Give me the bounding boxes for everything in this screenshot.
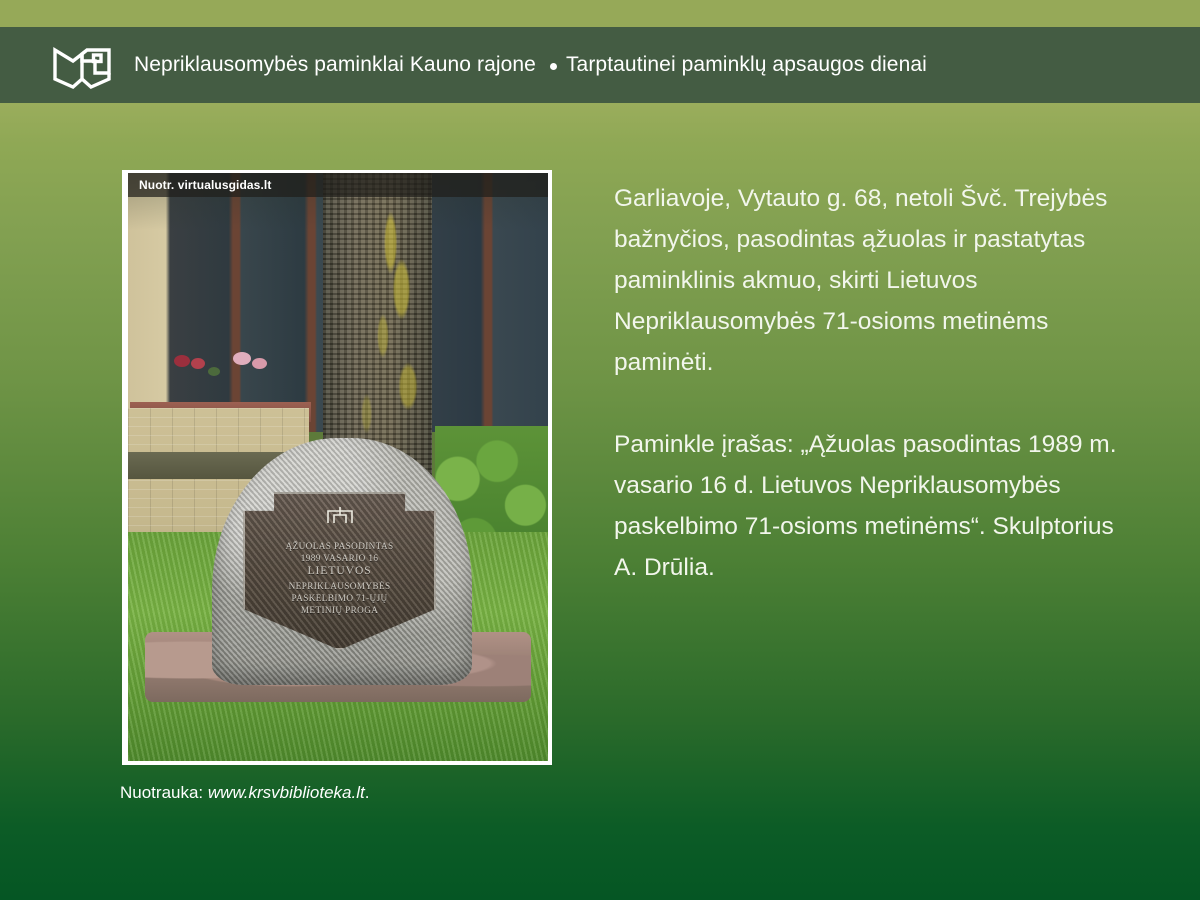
- slide-body-text: Garliavoje, Vytauto g. 68, netoli Švč. T…: [614, 178, 1124, 588]
- open-book-bookmark-logo-icon: [52, 41, 112, 89]
- inscription-line: LIETUVOS: [253, 564, 427, 579]
- photo-flower: [208, 367, 220, 376]
- header-title-part1: Nepriklausomybės paminklai Kauno rajone: [134, 53, 536, 77]
- header-title: Nepriklausomybės paminklai Kauno rajone …: [134, 53, 927, 77]
- photo-credit-period: .: [365, 783, 370, 802]
- photo-watermark-text: Nuotr. virtualusgidas.lt: [139, 178, 271, 192]
- header-title-bullet-icon: [550, 63, 557, 70]
- inscription-line: PASKELBIMO 71-ŲJŲ: [253, 592, 427, 604]
- inscription-line: METINIŲ PROGA: [253, 604, 427, 616]
- photo-inscription-text: ĄŽUOLAS PASODINTAS 1989 VASARIO 16 LIETU…: [253, 540, 427, 616]
- photo-frame: ĄŽUOLAS PASODINTAS 1989 VASARIO 16 LIETU…: [122, 170, 552, 765]
- photo-inscription-plaque: ĄŽUOLAS PASODINTAS 1989 VASARIO 16 LIETU…: [243, 492, 436, 650]
- presentation-slide: Nepriklausomybės paminklai Kauno rajone …: [0, 0, 1200, 900]
- photo-credit: Nuotrauka: www.krsvbiblioteka.lt.: [120, 783, 369, 803]
- photo-credit-url: www.krsvbiblioteka.lt: [208, 783, 365, 802]
- photo-credit-label: Nuotrauka:: [120, 783, 203, 802]
- header-title-part2: Tarptautinei paminklų apsaugos dienai: [566, 53, 927, 77]
- inscription-line: 1989 VASARIO 16: [253, 552, 427, 564]
- inscription-line: NEPRIKLAUSOMYBĖS: [253, 580, 427, 592]
- photo-watermark-banner: Nuotr. virtualusgidas.lt: [128, 173, 548, 197]
- slide-header: Nepriklausomybės paminklai Kauno rajone …: [0, 27, 1200, 103]
- top-accent-strip: [0, 0, 1200, 27]
- body-paragraph-2: Paminkle įrašas: „Ąžuolas pasodintas 198…: [614, 424, 1124, 588]
- inscription-line: ĄŽUOLAS PASODINTAS: [253, 540, 427, 552]
- body-paragraph-1: Garliavoje, Vytauto g. 68, netoli Švč. T…: [614, 178, 1124, 383]
- gediminas-columns-crest-icon: [325, 505, 355, 525]
- monument-photograph: ĄŽUOLAS PASODINTAS 1989 VASARIO 16 LIETU…: [128, 173, 548, 761]
